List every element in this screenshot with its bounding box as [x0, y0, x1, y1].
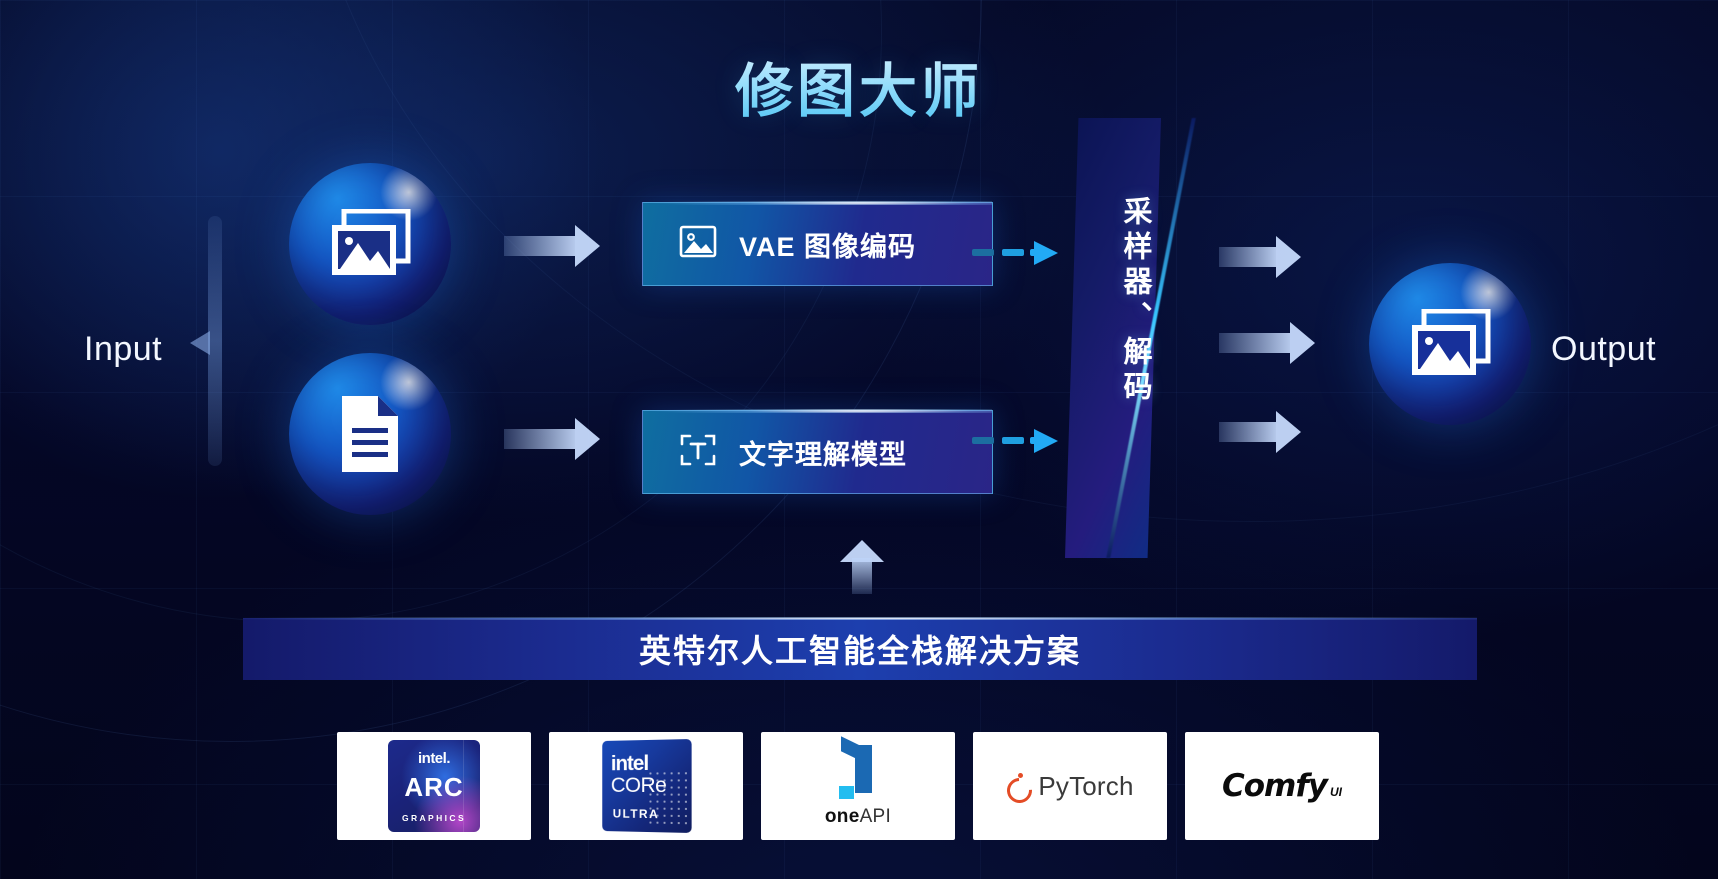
module-text-understanding-label: 文字理解模型: [739, 433, 907, 472]
comfyui-label: Comfy: [1222, 768, 1327, 804]
solution-banner: 英特尔人工智能全栈解决方案: [243, 618, 1477, 680]
intel-arc-line1: intel.: [388, 750, 480, 767]
text-recognition-icon: [679, 433, 717, 472]
dashed-arrow-text-to-sampler: [972, 437, 1058, 445]
oneapi-bold-text: one: [825, 806, 860, 827]
arrow-document-to-text-model: [504, 418, 600, 460]
intel-core-ultra-badge: intel CORe ULTRA: [602, 739, 691, 833]
intel-arc-badge: intel. ARC GRAPHICS: [388, 740, 480, 832]
document-input-sphere[interactable]: [289, 353, 451, 515]
arrow-sampler-to-output-2: [1219, 322, 1315, 364]
input-label: Input: [84, 330, 162, 369]
comfyui-suffix: UI: [1330, 785, 1342, 799]
pytorch-flame-icon: [1006, 773, 1029, 799]
input-brace: [198, 216, 224, 466]
module-vae-encode-label: VAE 图像编码: [739, 225, 916, 264]
core-ultra-line3: ULTRA: [613, 807, 659, 822]
oneapi-numeral-icon: [835, 745, 881, 799]
dashed-arrow-vae-to-sampler: [972, 249, 1058, 257]
image-input-sphere[interactable]: [289, 163, 451, 325]
arrow-sampler-to-output-3: [1219, 411, 1301, 453]
core-ultra-line1: intel: [611, 752, 648, 776]
logo-card-oneapi[interactable]: oneAPI: [761, 732, 955, 840]
sampler-decoder-label: 采样器、解码: [1080, 196, 1150, 406]
partner-logo-row: intel. ARC GRAPHICS intel CORe ULTRA one…: [337, 732, 1381, 840]
arrow-image-to-vae: [504, 225, 600, 267]
module-vae-encode[interactable]: VAE 图像编码: [642, 202, 993, 286]
image-icon: [679, 225, 717, 263]
output-sphere[interactable]: [1369, 263, 1531, 425]
arrow-stack-to-pipeline: [840, 540, 884, 592]
pytorch-logo: PyTorch: [1006, 771, 1133, 802]
comfyui-logo: Comfy UI: [1222, 768, 1342, 804]
arrow-sampler-to-output-1: [1219, 236, 1301, 278]
logo-card-intel-arc[interactable]: intel. ARC GRAPHICS: [337, 732, 531, 840]
core-ultra-line2: CORe: [611, 774, 667, 798]
pytorch-label: PyTorch: [1038, 771, 1133, 802]
document-icon: [338, 394, 402, 474]
oneapi-light-text: API: [860, 806, 892, 827]
oneapi-logo: oneAPI: [825, 745, 891, 828]
images-icon: [328, 209, 412, 279]
output-label: Output: [1551, 330, 1656, 369]
images-icon: [1408, 309, 1492, 379]
module-text-understanding[interactable]: 文字理解模型: [642, 410, 993, 494]
solution-banner-label: 英特尔人工智能全栈解决方案: [639, 626, 1081, 672]
logo-card-intel-core-ultra[interactable]: intel CORe ULTRA: [549, 732, 743, 840]
page-title: 修图大师: [0, 44, 1718, 128]
logo-card-comfyui[interactable]: Comfy UI: [1185, 732, 1379, 840]
intel-arc-line3: GRAPHICS: [388, 813, 480, 823]
logo-card-pytorch[interactable]: PyTorch: [973, 732, 1167, 840]
slide-canvas: 修图大师 Input: [0, 0, 1718, 879]
intel-arc-line2: ARC: [388, 772, 480, 803]
